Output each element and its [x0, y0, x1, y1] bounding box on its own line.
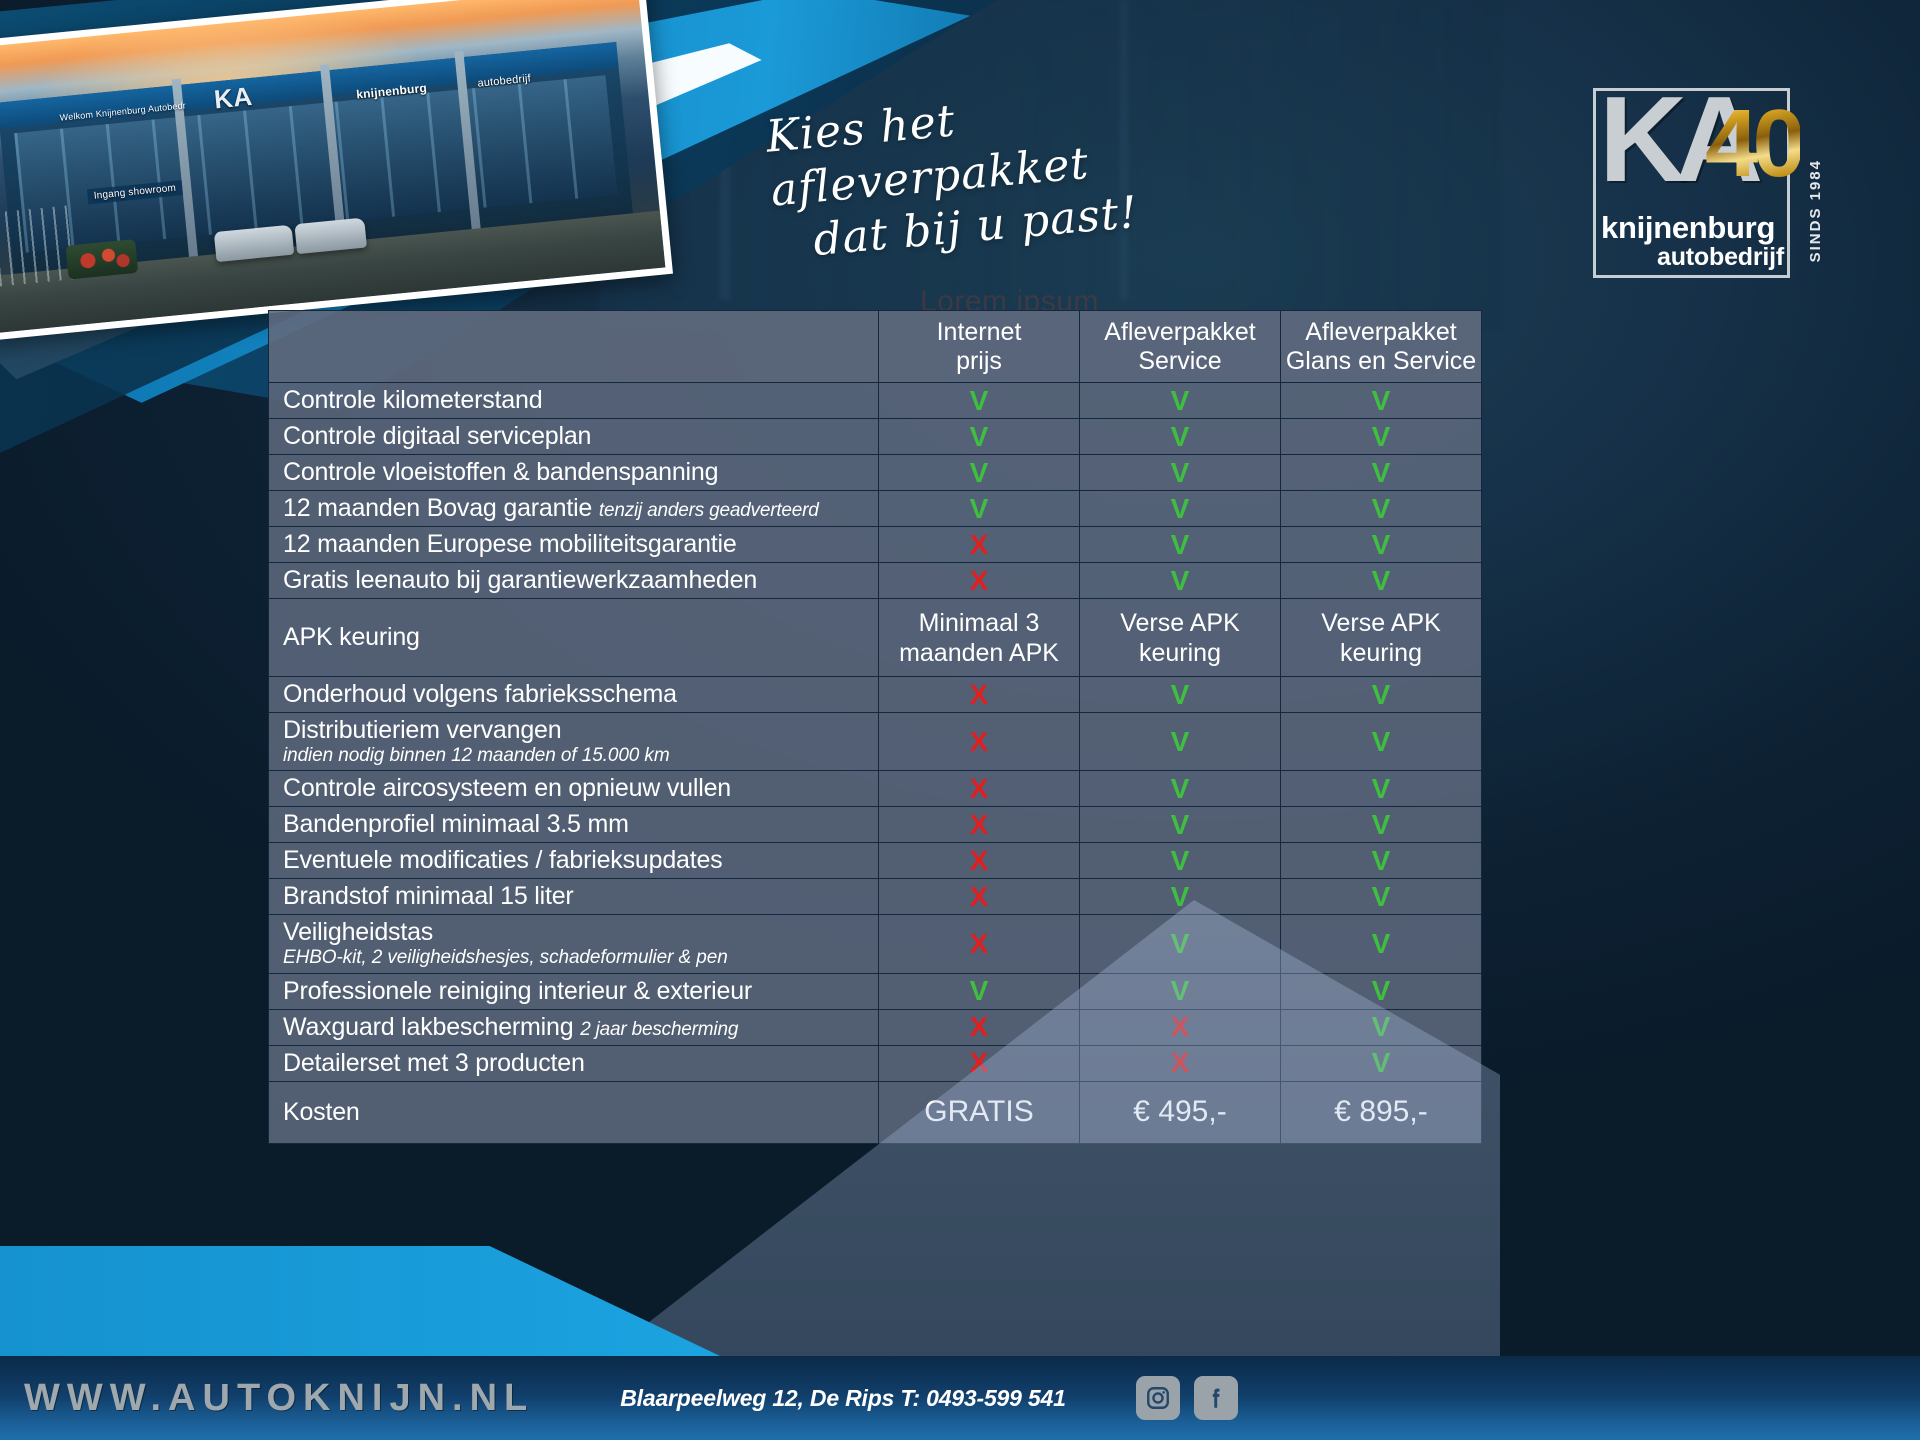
photo-sign-ka: KA — [213, 81, 254, 116]
cell-glans-check: V — [1281, 383, 1482, 419]
cell-internet-cross: X — [879, 563, 1080, 599]
header-blank — [269, 311, 879, 383]
row-feature-label: Professionele reiniging interieur & exte… — [269, 973, 879, 1009]
header-internet-line1: Internet — [879, 318, 1079, 347]
social-links — [1136, 1376, 1238, 1420]
cell-service-check: V — [1080, 713, 1281, 771]
row-feature-label: Controle kilometerstand — [269, 383, 879, 419]
cell-internet-check: V — [879, 491, 1080, 527]
row-feature-label: Bandenprofiel minimaal 3.5 mm — [269, 807, 879, 843]
feature-text: Controle aircosysteem en opnieuw vullen — [283, 774, 731, 802]
cell-service-text: Verse APK keuring — [1080, 599, 1281, 677]
table-row: 12 maanden Europese mobiliteitsgarantieX… — [269, 527, 1482, 563]
cell-service-check: V — [1080, 771, 1281, 807]
table-header: Internet prijs Afleverpakket Service Afl… — [269, 311, 1482, 383]
feature-text: Brandstof minimaal 15 liter — [283, 882, 574, 910]
table-body: Controle kilometerstandVVVControle digit… — [269, 383, 1482, 1144]
feature-text: Bandenprofiel minimaal 3.5 mm — [283, 810, 629, 838]
header-glans-line2: Glans en Service — [1281, 347, 1481, 376]
comparison-table: Internet prijs Afleverpakket Service Afl… — [268, 310, 1482, 1144]
header-glans-line1: Afleverpakket — [1281, 318, 1481, 347]
kosten-label: Kosten — [269, 1081, 879, 1143]
cell-glans-check: V — [1281, 1009, 1482, 1045]
feature-text: Eventuele modificaties / fabrieksupdates — [283, 846, 722, 874]
table-row: Controle aircosysteem en opnieuw vullenX… — [269, 771, 1482, 807]
table-row: Detailerset met 3 productenXXV — [269, 1045, 1482, 1081]
row-feature-label: 12 maanden Europese mobiliteitsgarantie — [269, 527, 879, 563]
row-feature-label: Controle digitaal serviceplan — [269, 419, 879, 455]
cell-service-cross: X — [1080, 1009, 1281, 1045]
cell-internet-cross: X — [879, 807, 1080, 843]
row-feature-label: Eventuele modificaties / fabrieksupdates — [269, 843, 879, 879]
logo-company-name: knijnenburg — [1601, 212, 1784, 244]
table-row: Gratis leenauto bij garantiewerkzaamhede… — [269, 563, 1482, 599]
table-row: Waxguard lakbescherming 2 jaar beschermi… — [269, 1009, 1482, 1045]
cell-service-check: V — [1080, 527, 1281, 563]
kosten-service-price: € 495,- — [1080, 1081, 1281, 1143]
cell-internet-cross: X — [879, 843, 1080, 879]
cell-glans-check: V — [1281, 1045, 1482, 1081]
row-feature-label: APK keuring — [269, 599, 879, 677]
row-feature-label: Onderhoud volgens fabrieksschema — [269, 677, 879, 713]
header-service-line1: Afleverpakket — [1080, 318, 1280, 347]
feature-text: APK keuring — [283, 623, 420, 651]
logo-anniversary-40: 40 — [1705, 96, 1800, 192]
footer-website-url[interactable]: WWW.AUTOKNIJN.NL — [24, 1377, 534, 1420]
table-row: Distributieriem vervangenindien nodig bi… — [269, 713, 1482, 771]
cell-glans-check: V — [1281, 973, 1482, 1009]
table-row: Controle vloeistoffen & bandenspanningVV… — [269, 455, 1482, 491]
table-row-kosten: KostenGRATIS€ 495,-€ 895,- — [269, 1081, 1482, 1143]
instagram-icon[interactable] — [1136, 1376, 1180, 1420]
facebook-icon[interactable] — [1194, 1376, 1238, 1420]
cell-glans-check: V — [1281, 843, 1482, 879]
feature-text: Gratis leenauto bij garantiewerkzaamhede… — [283, 566, 757, 594]
cell-service-check: V — [1080, 383, 1281, 419]
feature-text: Controle vloeistoffen & bandenspanning — [283, 458, 718, 486]
header-afleverpakket-service: Afleverpakket Service — [1080, 311, 1281, 383]
cell-internet-cross: X — [879, 915, 1080, 973]
feature-text: Detailerset met 3 producten — [283, 1049, 585, 1077]
logo-since-label: SINDS 1984 — [1807, 159, 1824, 262]
cell-service-check: V — [1080, 973, 1281, 1009]
feature-inline-note: 2 jaar bescherming — [580, 1019, 738, 1040]
table-row: Controle kilometerstandVVV — [269, 383, 1482, 419]
feature-text: Veiligheidstas — [283, 918, 433, 946]
table-row: APK keuringMinimaal 3 maanden APKVerse A… — [269, 599, 1482, 677]
package-comparison-table: Internet prijs Afleverpakket Service Afl… — [268, 310, 1481, 1144]
cell-glans-check: V — [1281, 713, 1482, 771]
row-feature-label: VeiligheidstasEHBO-kit, 2 veiligheidshes… — [269, 915, 879, 973]
cell-glans-text: Verse APK keuring — [1281, 599, 1482, 677]
row-feature-label: Waxguard lakbescherming 2 jaar beschermi… — [269, 1009, 879, 1045]
cell-glans-check: V — [1281, 527, 1482, 563]
cell-glans-check: V — [1281, 419, 1482, 455]
cell-glans-check: V — [1281, 879, 1482, 915]
cell-internet-check: V — [879, 383, 1080, 419]
table-row: Bandenprofiel minimaal 3.5 mmXVV — [269, 807, 1482, 843]
header-service-line2: Service — [1080, 347, 1280, 376]
cell-internet-check: V — [879, 973, 1080, 1009]
feature-text: Professionele reiniging interieur & exte… — [283, 977, 752, 1005]
cell-glans-check: V — [1281, 455, 1482, 491]
header-internet-prijs: Internet prijs — [879, 311, 1080, 383]
cell-glans-check: V — [1281, 807, 1482, 843]
table-row: VeiligheidstasEHBO-kit, 2 veiligheidshes… — [269, 915, 1482, 973]
cell-service-check: V — [1080, 563, 1281, 599]
feature-note: EHBO-kit, 2 veiligheidshesjes, schadefor… — [283, 947, 878, 968]
feature-inline-note: tenzij anders geadverteerd — [599, 500, 819, 521]
row-feature-label: Distributieriem vervangenindien nodig bi… — [269, 713, 879, 771]
cell-service-check: V — [1080, 807, 1281, 843]
cell-service-check: V — [1080, 455, 1281, 491]
header-internet-line2: prijs — [879, 347, 1079, 376]
feature-text: Controle digitaal serviceplan — [283, 422, 591, 450]
table-row: Onderhoud volgens fabrieksschemaXVV — [269, 677, 1482, 713]
cell-glans-check: V — [1281, 491, 1482, 527]
row-feature-label: Gratis leenauto bij garantiewerkzaamhede… — [269, 563, 879, 599]
cell-service-check: V — [1080, 843, 1281, 879]
row-feature-label: Controle vloeistoffen & bandenspanning — [269, 455, 879, 491]
table-row: Eventuele modificaties / fabrieksupdates… — [269, 843, 1482, 879]
row-feature-label: Brandstof minimaal 15 liter — [269, 879, 879, 915]
kosten-internet-price: GRATIS — [879, 1081, 1080, 1143]
cell-internet-cross: X — [879, 527, 1080, 563]
feature-text: Distributieriem vervangen — [283, 716, 561, 744]
feature-text: Controle kilometerstand — [283, 386, 542, 414]
feature-text: 12 maanden Europese mobiliteitsgarantie — [283, 530, 737, 558]
cell-service-check: V — [1080, 419, 1281, 455]
cell-internet-cross: X — [879, 713, 1080, 771]
table-row: 12 maanden Bovag garantie tenzij anders … — [269, 491, 1482, 527]
table-row: Professionele reiniging interieur & exte… — [269, 973, 1482, 1009]
cell-glans-check: V — [1281, 563, 1482, 599]
feature-text: 12 maanden Bovag garantie — [283, 494, 599, 522]
cell-glans-check: V — [1281, 915, 1482, 973]
cell-service-check: V — [1080, 677, 1281, 713]
kosten-glans-price: € 895,- — [1281, 1081, 1482, 1143]
cell-service-check: V — [1080, 915, 1281, 973]
table-row: Brandstof minimaal 15 literXVV — [269, 879, 1482, 915]
photo-flower-planter — [66, 239, 139, 280]
table-row: Controle digitaal serviceplanVVV — [269, 419, 1482, 455]
cell-internet-check: V — [879, 455, 1080, 491]
company-logo: KA 40 knijnenburg autobedrijf SINDS 1984 — [1593, 88, 1828, 278]
row-feature-label: 12 maanden Bovag garantie tenzij anders … — [269, 491, 879, 527]
cell-service-check: V — [1080, 491, 1281, 527]
footer-address-phone: Blaarpeelweg 12, De Rips T: 0493-599 541 — [620, 1385, 1065, 1412]
cell-internet-cross: X — [879, 879, 1080, 915]
cell-internet-cross: X — [879, 1045, 1080, 1081]
cell-internet-cross: X — [879, 1009, 1080, 1045]
feature-note: indien nodig binnen 12 maanden of 15.000… — [283, 745, 878, 766]
cell-internet-text: Minimaal 3 maanden APK — [879, 599, 1080, 677]
header-afleverpakket-glans-service: Afleverpakket Glans en Service — [1281, 311, 1482, 383]
feature-text: Onderhoud volgens fabrieksschema — [283, 680, 677, 708]
cell-service-cross: X — [1080, 1045, 1281, 1081]
cell-glans-check: V — [1281, 771, 1482, 807]
feature-text: Waxguard lakbescherming — [283, 1013, 580, 1041]
row-feature-label: Detailerset met 3 producten — [269, 1045, 879, 1081]
cell-service-check: V — [1080, 879, 1281, 915]
page-footer: WWW.AUTOKNIJN.NL Blaarpeelweg 12, De Rip… — [0, 1356, 1920, 1440]
logo-company-sub: autobedrijf — [1601, 243, 1784, 272]
cell-internet-check: V — [879, 419, 1080, 455]
cell-internet-cross: X — [879, 677, 1080, 713]
cell-internet-cross: X — [879, 771, 1080, 807]
row-feature-label: Controle aircosysteem en opnieuw vullen — [269, 771, 879, 807]
cell-glans-check: V — [1281, 677, 1482, 713]
